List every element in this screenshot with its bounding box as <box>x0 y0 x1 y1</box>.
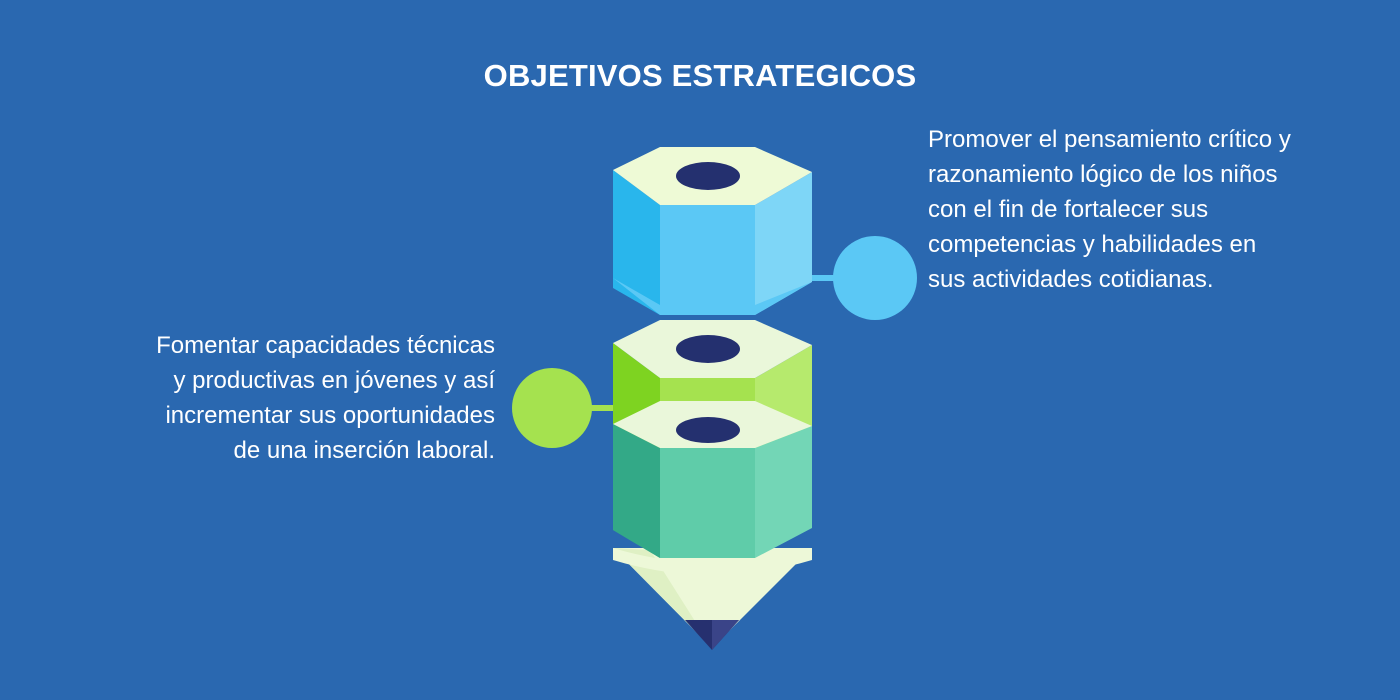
segment-bottom-front-face <box>660 448 755 558</box>
callout-text-left: Fomentar capacidades técnicas y producti… <box>150 328 495 468</box>
marker-circle-middle <box>512 368 592 448</box>
segment-middle-hole <box>676 335 740 363</box>
page-title: OBJETIVOS ESTRATEGICOS <box>0 56 1400 96</box>
pencil-graphic-svg <box>480 130 920 670</box>
pencil-stack-diagram <box>480 130 920 670</box>
segment-top-front-face-main <box>660 205 755 315</box>
marker-circle-top <box>833 236 917 320</box>
segment-top-hole <box>676 162 740 190</box>
segment-bottom-right-face <box>755 426 812 558</box>
segment-bottom-hole <box>676 417 740 443</box>
segment-bottom <box>613 401 812 650</box>
callout-text-right: Promover el pensamiento crítico y razona… <box>928 122 1298 297</box>
slide-root: OBJETIVOS ESTRATEGICOS <box>0 0 1400 700</box>
segment-top <box>613 147 917 320</box>
